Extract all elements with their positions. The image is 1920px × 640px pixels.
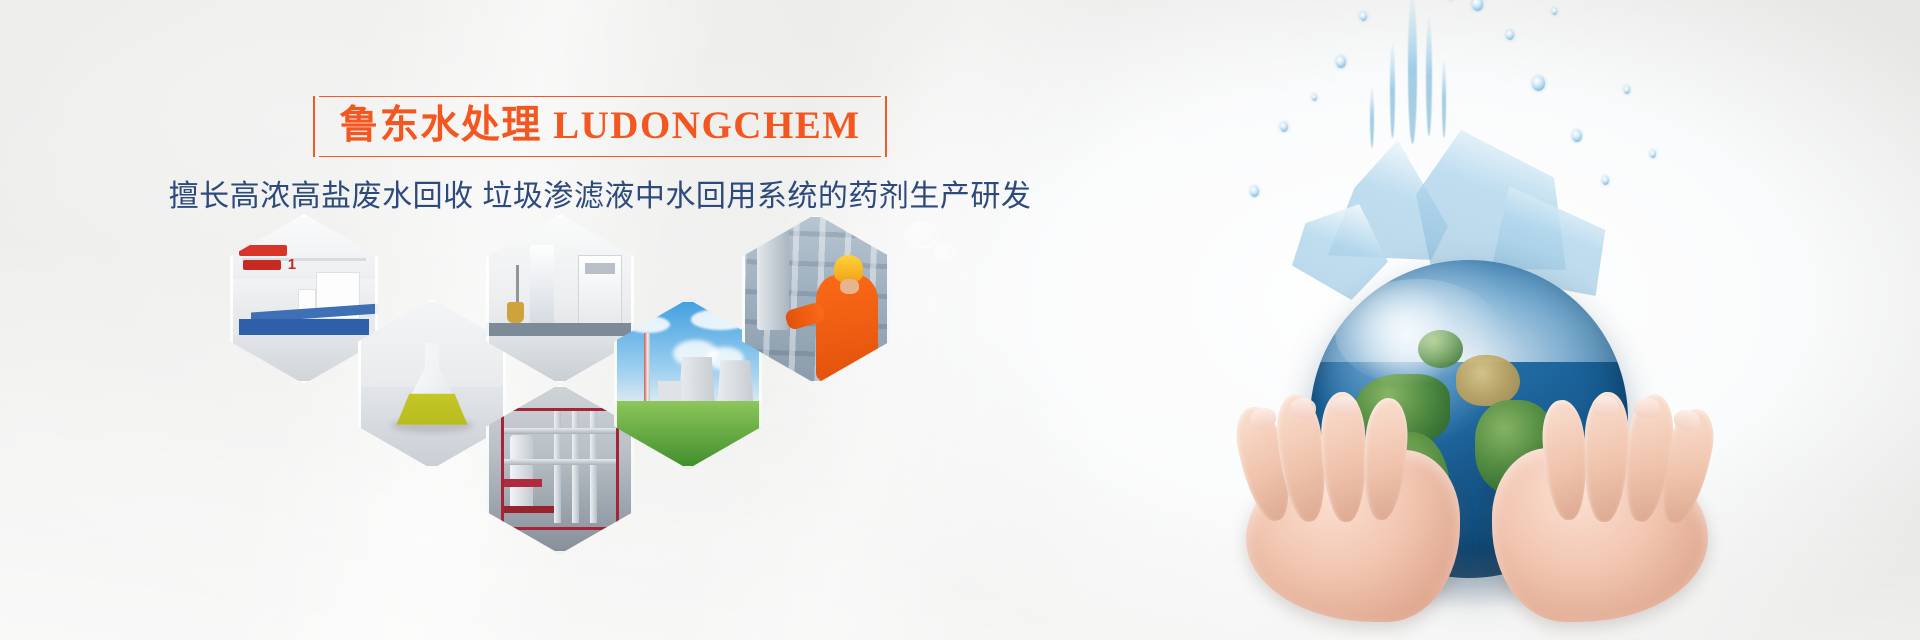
hex-photo-conical-flask[interactable]: [358, 299, 506, 469]
hexagon-photo-cluster: 1: [230, 214, 950, 524]
bracket-right-icon: [865, 96, 887, 157]
bracket-left-icon: [313, 96, 335, 157]
bokeh-bubble-large: [905, 222, 939, 248]
page-title: 鲁东水处理 LUDONGCHEM: [339, 103, 860, 149]
hex-photo-field-engineer[interactable]: [742, 214, 890, 384]
rule-bottom-divider: [319, 156, 880, 157]
subtitle-text: 擅长高浓高盐废水回收 垃圾渗滤液中水回用系统的药剂生产研发: [0, 171, 1200, 215]
brand-title-frame: 鲁东水处理 LUDONGCHEM: [313, 96, 886, 157]
hex-photo-laboratory-room[interactable]: 1: [230, 214, 378, 384]
water-globe-scene: [1160, 0, 1920, 640]
hex-photo-piping-skid[interactable]: [486, 384, 634, 554]
promo-banner: 鲁东水处理 LUDONGCHEM 擅长高浓高盐废水回收 垃圾渗滤液中水回用系统的…: [0, 0, 1920, 640]
hex-photo-lab-equipment[interactable]: [486, 214, 634, 384]
bokeh-bubble-small: [935, 244, 955, 259]
hex-photo-power-plant[interactable]: [614, 299, 762, 469]
rule-top-divider: [319, 96, 880, 97]
headline-block: 鲁东水处理 LUDONGCHEM 擅长高浓高盐废水回收 垃圾渗滤液中水回用系统的…: [0, 96, 1200, 215]
hands-cupped: [1240, 392, 1710, 640]
